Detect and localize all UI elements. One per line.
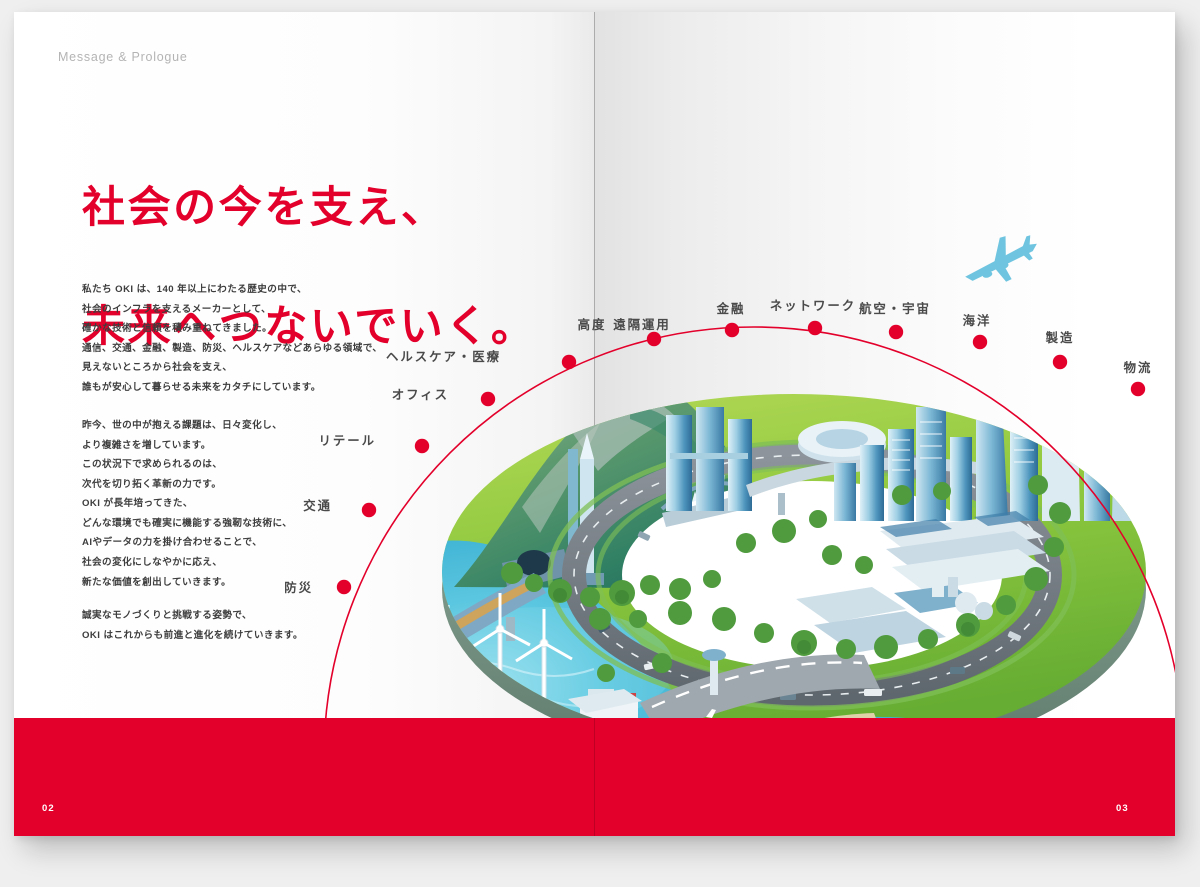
arc-dot[interactable] bbox=[973, 335, 987, 349]
arc-label: 金融 bbox=[717, 299, 746, 317]
airplane-icon bbox=[954, 230, 1050, 290]
footer-spine-line bbox=[594, 718, 595, 836]
arc-dot[interactable] bbox=[725, 323, 739, 337]
arc-label: ヘルスケア・医療 bbox=[386, 347, 501, 365]
section-kicker: Message & Prologue bbox=[58, 50, 188, 64]
arc-label: オフィス bbox=[392, 385, 449, 403]
arc-label: 物流 bbox=[1124, 358, 1153, 376]
arc-label: 交通 bbox=[303, 496, 332, 514]
twin-office-towers bbox=[666, 407, 752, 511]
footer-red-band: 02 03 bbox=[14, 718, 1175, 836]
headline-line-1: 社会の今を支え、 bbox=[82, 179, 552, 238]
arc-label: 海洋 bbox=[963, 311, 992, 329]
arc-label: リテール bbox=[319, 431, 377, 449]
arc-dot[interactable] bbox=[647, 332, 661, 346]
city-diorama-illustration bbox=[394, 367, 1175, 767]
page-number-left: 02 bbox=[42, 803, 55, 814]
arc-label: 防災 bbox=[284, 578, 313, 596]
body-paragraph-3: 誠実なモノづくりと挑戦する姿勢で、 OKI はこれからも前進と進化を続けていきま… bbox=[82, 606, 402, 645]
page-spread: Message & Prologue 社会の今を支え、 未来へつないでいく。 私… bbox=[14, 12, 1175, 836]
arc-dot[interactable] bbox=[808, 321, 822, 335]
page-number-right: 03 bbox=[1116, 803, 1129, 814]
arc-label: ネットワーク bbox=[770, 296, 856, 314]
arc-label: 遠隔運用 bbox=[613, 315, 671, 333]
arc-label: 製造 bbox=[1046, 328, 1075, 346]
body-paragraph-1: 私たち OKI は、140 年以上にわたる歴史の中で、 社会のインフラを支えるメ… bbox=[82, 280, 402, 397]
brochure-spread-viewport: Message & Prologue 社会の今を支え、 未来へつないでいく。 私… bbox=[0, 0, 1200, 887]
arc-dot[interactable] bbox=[889, 325, 903, 339]
arc-label: 航空・宇宙 bbox=[859, 299, 931, 317]
arc-label: 高度 bbox=[578, 315, 607, 333]
